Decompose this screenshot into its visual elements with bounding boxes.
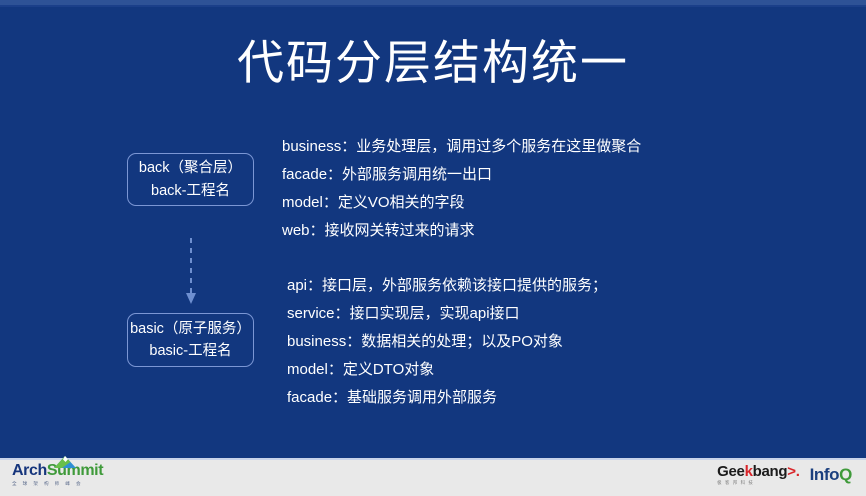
detail-line: facade：外部服务调用统一出口 bbox=[282, 161, 641, 189]
detail-line: web：接收网关转过来的请求 bbox=[282, 217, 641, 245]
geekbang-bang-text: bang bbox=[753, 463, 788, 480]
detail-list-back-layer: business：业务处理层，调用过多个服务在这里做聚合 facade：外部服务… bbox=[282, 133, 641, 245]
dashed-arrow-connector bbox=[183, 238, 199, 304]
node-box-basic[interactable]: basic（原子服务） basic-工程名 bbox=[127, 313, 254, 367]
archsummit-wordmark: Arch Summit bbox=[12, 462, 103, 480]
geekbang-logo: Gee k bang >. 极 客 邦 科 技 bbox=[717, 463, 799, 486]
node-box-back-line2: back-工程名 bbox=[151, 180, 230, 202]
archsummit-arch-text: Arch bbox=[12, 462, 47, 480]
detail-line: business：业务处理层，调用过多个服务在这里做聚合 bbox=[282, 133, 641, 161]
geekbang-wordmark: Gee k bang >. bbox=[717, 463, 799, 480]
infoq-info-text: Info bbox=[810, 465, 840, 485]
node-box-basic-line2: basic-工程名 bbox=[149, 340, 231, 362]
detail-list-basic-layer: api：接口层，外部服务依赖该接口提供的服务； service：接口实现层，实现… bbox=[287, 272, 607, 412]
detail-line: model：定义VO相关的字段 bbox=[282, 189, 641, 217]
detail-line: model：定义DTO对象 bbox=[287, 356, 607, 384]
mountain-icon bbox=[50, 456, 80, 469]
partner-logos: Gee k bang >. 极 客 邦 科 技 Info Q bbox=[717, 463, 852, 486]
detail-line: business：数据相关的处理；以及PO对象 bbox=[287, 328, 607, 356]
archsummit-logo: Arch Summit 全 球 架 构 师 峰 会 bbox=[12, 462, 103, 490]
node-box-back-line1: back（聚合层） bbox=[139, 157, 242, 179]
archsummit-subtitle: 全 球 架 构 师 峰 会 bbox=[12, 481, 83, 487]
detail-line: facade：基础服务调用外部服务 bbox=[287, 384, 607, 412]
geekbang-chevron-text: >. bbox=[787, 463, 799, 480]
detail-line: api：接口层，外部服务依赖该接口提供的服务； bbox=[287, 272, 607, 300]
geekbang-subtitle: 极 客 邦 科 技 bbox=[717, 480, 754, 486]
detail-line: service：接口实现层，实现api接口 bbox=[287, 300, 607, 328]
page-title: 代码分层结构统一 bbox=[0, 36, 866, 90]
geekbang-gee-text: Gee bbox=[717, 463, 744, 480]
infoq-logo: Info Q bbox=[810, 465, 852, 485]
slide-canvas: 代码分层结构统一 back（聚合层） back-工程名 basic（原子服务） … bbox=[0, 0, 866, 496]
node-box-basic-line1: basic（原子服务） bbox=[130, 318, 251, 340]
node-box-back[interactable]: back（聚合层） back-工程名 bbox=[127, 153, 254, 206]
geekbang-k-text: k bbox=[745, 463, 753, 480]
infoq-q-text: Q bbox=[839, 465, 852, 485]
